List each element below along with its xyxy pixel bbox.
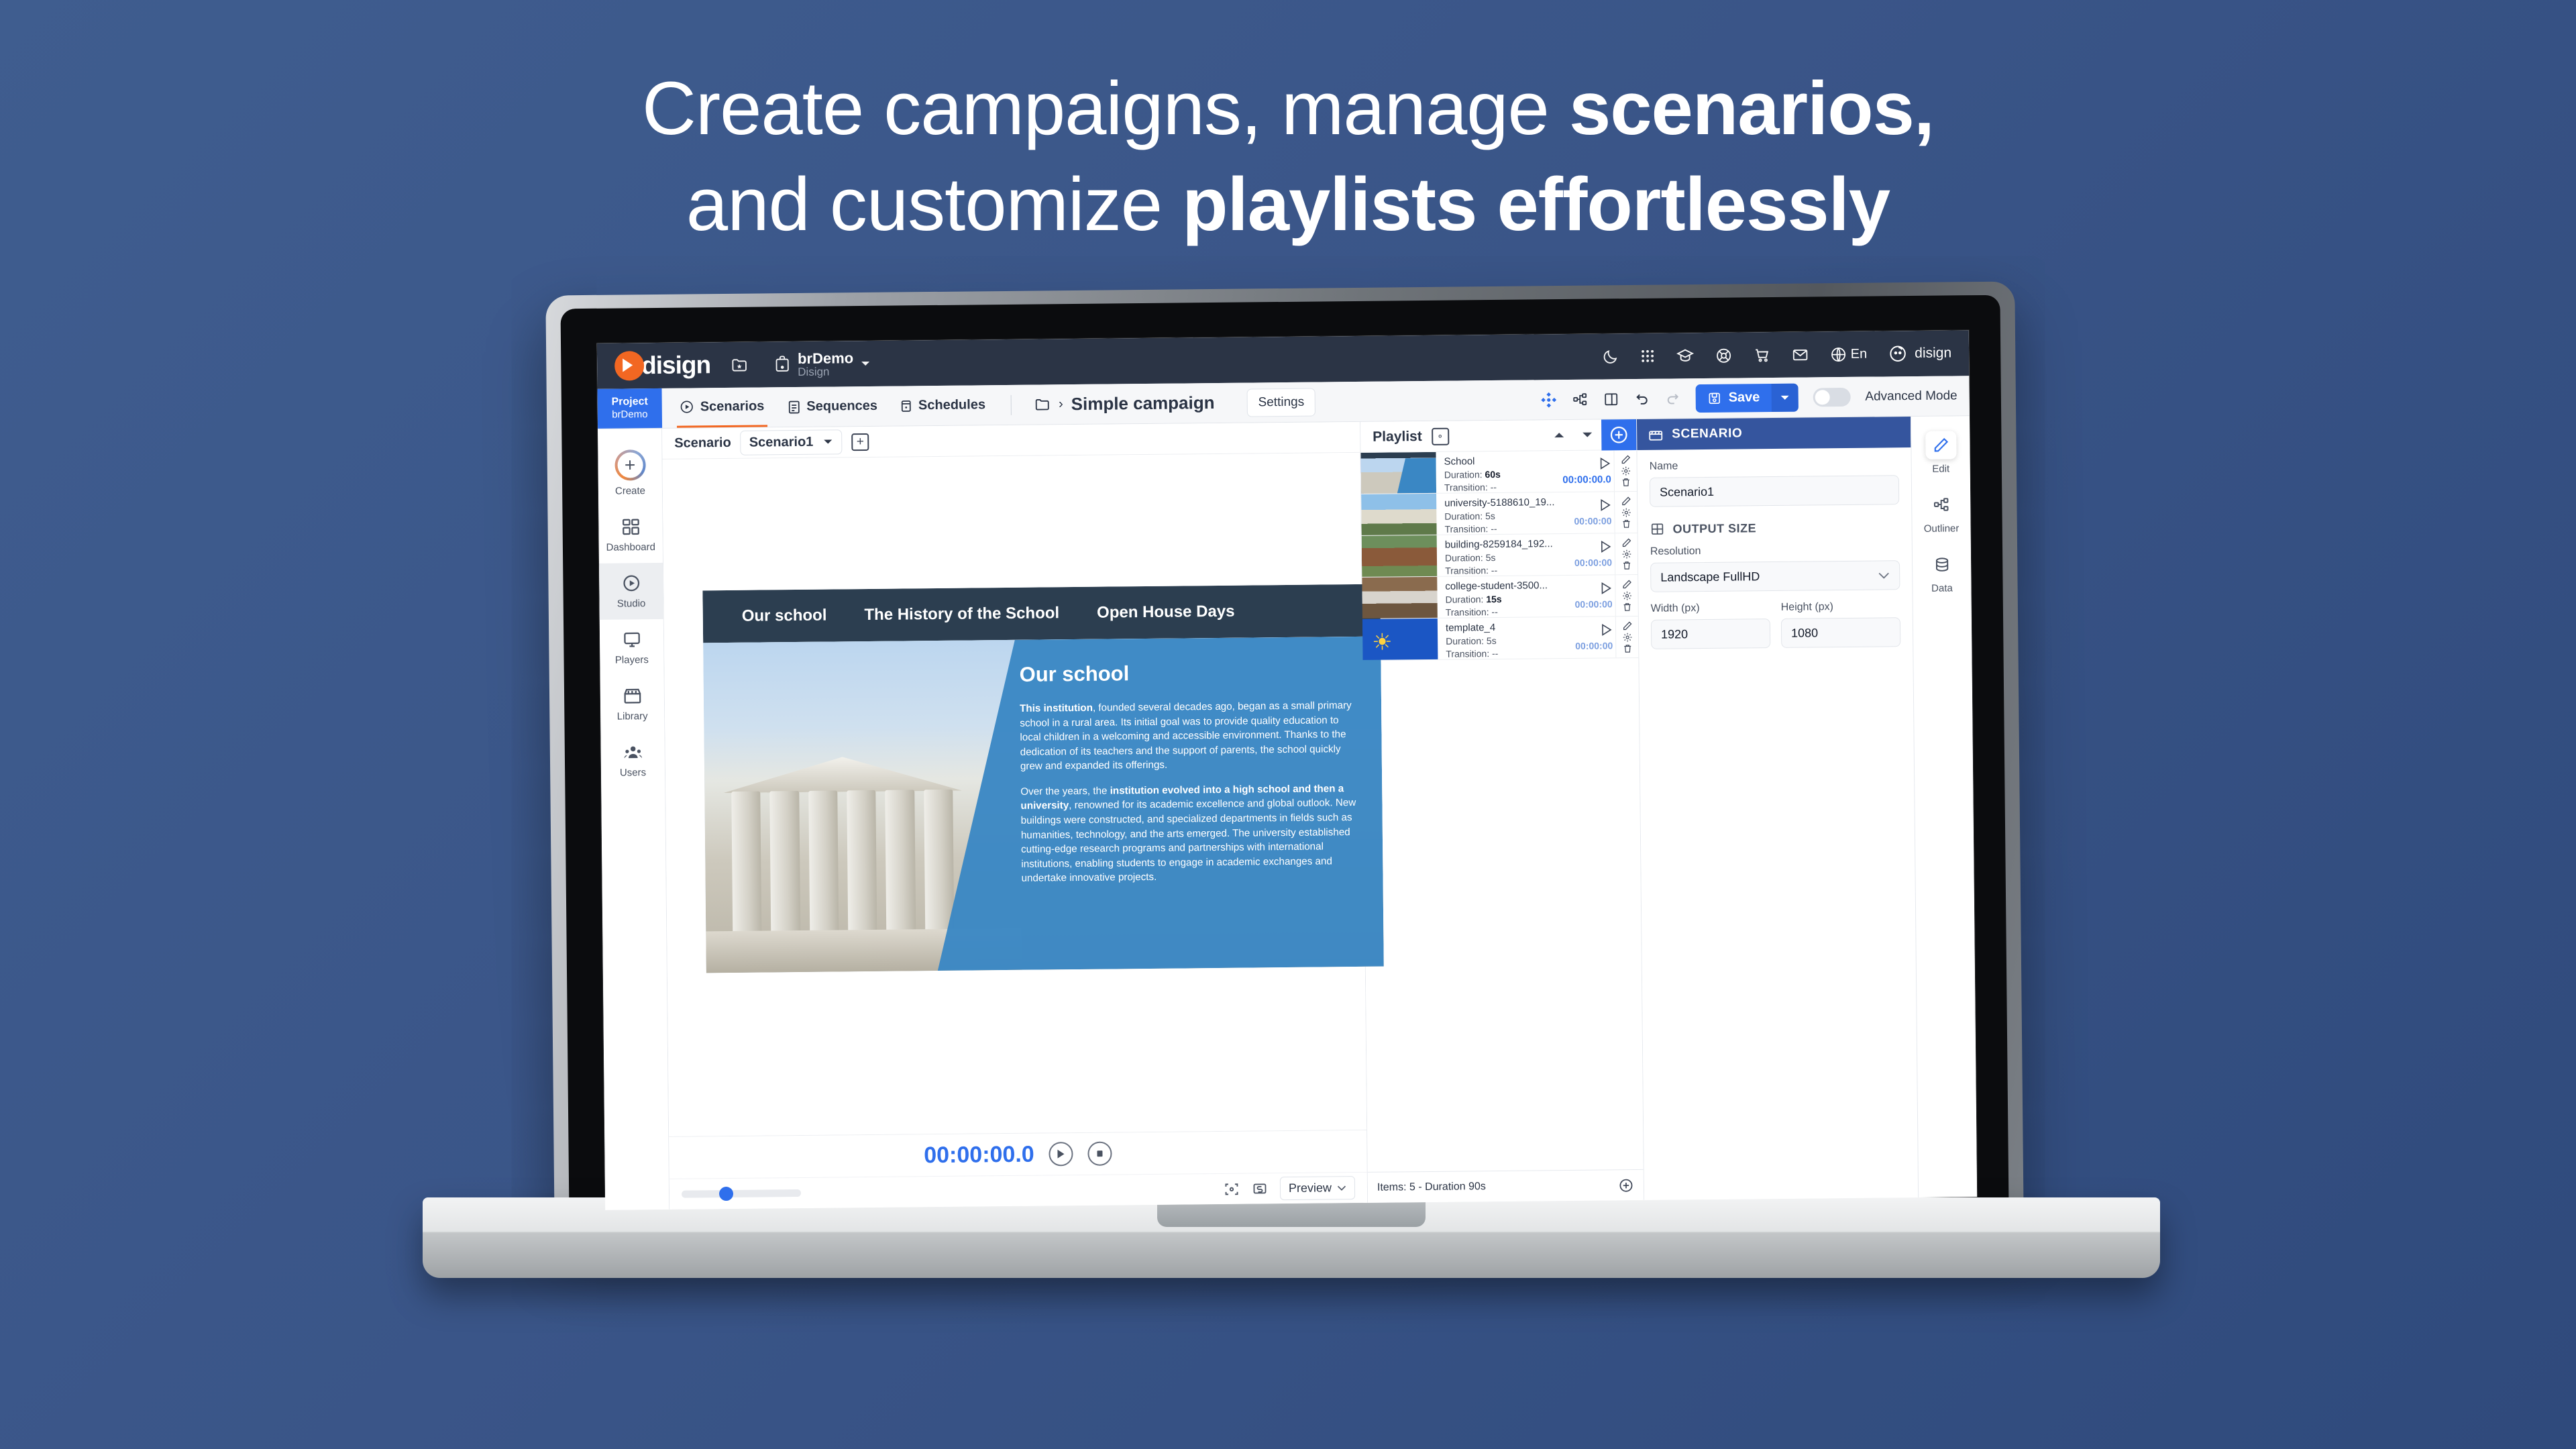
topbar-actions: En disign: [1602, 343, 1952, 366]
lifebuoy-icon[interactable]: [1715, 347, 1732, 364]
gear-icon[interactable]: [1621, 590, 1632, 601]
preview-actions: Preview: [1224, 1176, 1355, 1201]
navbar-tools: Save Advanced Mode: [1540, 376, 1970, 419]
save-button-group[interactable]: Save: [1695, 383, 1798, 412]
playlist-move-down-button[interactable]: [1573, 419, 1601, 450]
play-circle-icon: [680, 399, 694, 414]
plus-circle-icon: [1618, 1177, 1634, 1193]
briefcase-icon: [773, 355, 791, 374]
scenario-name-input[interactable]: Scenario1: [1650, 475, 1899, 507]
list-doc-icon: [787, 399, 800, 414]
preview-dropdown[interactable]: Preview: [1280, 1176, 1355, 1200]
scenario-canvas[interactable]: Our school The History of the School Ope…: [663, 453, 1367, 1136]
slide-p1-bold: This institution: [1020, 702, 1093, 714]
graduation-cap-icon[interactable]: [1676, 347, 1694, 364]
playlist-panel: Playlist: [1360, 419, 1644, 1203]
brand-name: disign: [641, 351, 710, 380]
duration-value: 5s: [1486, 552, 1496, 563]
playlist-item-transition: Transition: --: [1445, 564, 1562, 576]
right-rail-item-outliner[interactable]: Outliner: [1912, 484, 1971, 544]
playlist-item-duration: Duration: 5s: [1444, 510, 1562, 522]
add-scenario-button[interactable]: +: [851, 433, 869, 450]
playlist-header-actions: [1545, 419, 1636, 450]
move-icon[interactable]: [1540, 391, 1558, 409]
sidebar-item-label: Create: [615, 485, 645, 496]
dashboard-icon: [621, 517, 641, 537]
transition-label: Transition:: [1444, 482, 1488, 493]
height-input[interactable]: 1080: [1781, 617, 1900, 648]
sidebar-item-dashboard[interactable]: Dashboard: [598, 506, 663, 563]
tab-scenarios[interactable]: Scenarios: [676, 387, 767, 427]
trash-icon[interactable]: [1620, 477, 1631, 488]
fit-screen-icon[interactable]: [1224, 1181, 1240, 1197]
stop-icon: [1095, 1148, 1105, 1159]
calendar-icon: [900, 398, 912, 413]
advanced-mode-label: Advanced Mode: [1865, 388, 1957, 404]
playlist-footer: Items: 5 - Duration 90s: [1368, 1169, 1644, 1203]
plus-circle-icon: [1609, 425, 1629, 445]
gear-square-icon[interactable]: [1432, 427, 1449, 445]
playlist-item-transition: Transition: --: [1444, 523, 1562, 535]
folder-star-icon[interactable]: [731, 356, 748, 374]
duration-value: 60s: [1485, 469, 1501, 480]
plus-circle-icon: +: [614, 449, 645, 480]
properties-header: SCENARIO: [1637, 417, 1911, 450]
list-item[interactable]: college-student-3500... Duration: 15s Tr…: [1362, 575, 1638, 619]
play-icon[interactable]: [1599, 457, 1611, 470]
undo-icon[interactable]: [1634, 390, 1650, 407]
playlist-item-meta: School Duration: 60s Transition: --: [1436, 451, 1562, 493]
duration-label: Duration:: [1444, 469, 1483, 480]
playlist-item-duration: Duration: 5s: [1446, 635, 1563, 647]
right-rail-item-edit[interactable]: Edit: [1911, 424, 1970, 484]
apps-grid-icon[interactable]: [1640, 349, 1655, 364]
playlist-item-duration: Duration: 5s: [1445, 551, 1562, 563]
sidebar-item-library[interactable]: Library: [600, 676, 665, 733]
project-subtitle: Disign: [798, 366, 853, 378]
brand-logo[interactable]: disign: [614, 350, 710, 380]
settings-button[interactable]: Settings: [1246, 388, 1316, 417]
properties-panel: SCENARIO Name Scenario1 OUTPUT SIZE Reso…: [1637, 417, 1918, 1200]
trash-icon[interactable]: [1621, 602, 1632, 612]
weather-template-thumb: [1362, 619, 1438, 660]
playlist-title: Playlist: [1373, 429, 1422, 445]
tab-scenarios-label: Scenarios: [700, 398, 765, 415]
user-name: disign: [1915, 345, 1951, 362]
cart-icon[interactable]: [1754, 347, 1770, 364]
slide-nav: Our school The History of the School Ope…: [702, 584, 1381, 643]
headline-line2-bold: playlists effortlessly: [1182, 162, 1890, 246]
sidebar-item-players[interactable]: Players: [600, 619, 664, 676]
height-label: Height (px): [1781, 600, 1900, 614]
transition-value: --: [1491, 606, 1497, 617]
monitor-icon: [621, 629, 641, 649]
left-sidebar: + Create Dashboard Studio Players Librar…: [598, 429, 669, 1210]
pencil-icon[interactable]: [1621, 579, 1632, 590]
store-icon: [622, 686, 642, 706]
save-icon: [1707, 390, 1722, 405]
play-icon[interactable]: [1599, 540, 1612, 553]
playlist-item-transition: Transition: --: [1446, 606, 1563, 618]
sidebar-item-users[interactable]: Users: [600, 732, 665, 789]
duration-label: Duration:: [1444, 511, 1483, 522]
resolution-label: Resolution: [1650, 543, 1900, 558]
pencil-icon[interactable]: [1621, 496, 1631, 506]
tab-schedules[interactable]: Schedules: [898, 385, 989, 425]
redo-icon[interactable]: [1665, 390, 1681, 407]
playlist-item-duration: Duration: 15s: [1445, 593, 1562, 605]
right-rail-item-data[interactable]: Data: [1913, 543, 1972, 604]
playlist-item-name: building-8259184_192...: [1445, 538, 1562, 551]
slide-heading: Our school: [1019, 659, 1358, 687]
name-label: Name: [1650, 458, 1899, 473]
preview-label: Preview: [1289, 1181, 1332, 1195]
layout-icon[interactable]: [1603, 391, 1619, 407]
sidebar-item-create[interactable]: + Create: [598, 439, 662, 507]
avatar-icon: [1888, 344, 1907, 363]
play-icon[interactable]: [1600, 623, 1613, 636]
play-icon: [1057, 1148, 1066, 1159]
page-headline: Create campaigns, manage scenarios, and …: [0, 60, 2576, 253]
app-body: + Create Dashboard Studio Players Librar…: [598, 416, 1977, 1210]
right-rail-label: Data: [1931, 582, 1953, 594]
trash-icon[interactable]: [1622, 643, 1633, 654]
language-selector[interactable]: En: [1830, 345, 1868, 363]
right-rail-label: Outliner: [1924, 523, 1960, 535]
playlist-item-actions: [1615, 616, 1639, 657]
save-dropdown-button[interactable]: [1771, 383, 1798, 411]
project-tab-value: brDemo: [612, 409, 648, 421]
playlist-item-transition: Transition: --: [1446, 647, 1563, 659]
playlist-item-transition: Transition: --: [1444, 481, 1562, 493]
playlist-item-name: School: [1444, 455, 1562, 468]
size-fields: Width (px) 1920 Height (px) 1080: [1651, 600, 1901, 649]
transition-label: Transition:: [1446, 648, 1489, 659]
sidebar-item-label: Players: [615, 654, 649, 665]
headline-line2-plain: and customize: [686, 162, 1182, 246]
pencil-icon[interactable]: [1620, 454, 1631, 465]
playback-row: 00:00:00.0: [669, 1130, 1367, 1179]
gear-icon[interactable]: [1620, 466, 1631, 476]
transition-label: Transition:: [1445, 565, 1489, 576]
list-item[interactable]: university-5188610_19... Duration: 5s Tr…: [1361, 492, 1638, 536]
slide-nav-item-2: The History of the School: [864, 604, 1059, 625]
resolution-value: Landscape FullHD: [1660, 570, 1760, 584]
trash-icon[interactable]: [1621, 560, 1632, 571]
slide-nav-item-1: Our school: [742, 606, 827, 626]
playlist-item-meta: building-8259184_192... Duration: 5s Tra…: [1437, 534, 1563, 576]
scenario-select[interactable]: Scenario1: [741, 429, 843, 455]
width-label: Width (px): [1651, 602, 1770, 615]
language-label: En: [1851, 346, 1868, 362]
playlist-item-name: university-5188610_19...: [1444, 496, 1562, 509]
building-photo-thumb: [1362, 535, 1438, 577]
zoom-slider[interactable]: [682, 1189, 801, 1198]
application-window: disign brDemo Disign: [597, 330, 1977, 1210]
editor-center: Scenario Scenario1 + Our school The Hist…: [662, 422, 1368, 1210]
playlist-item-duration: Duration: 60s: [1444, 468, 1562, 480]
output-size-section: OUTPUT SIZE: [1650, 519, 1899, 537]
tree-icon[interactable]: [1572, 391, 1589, 407]
playlist-item-controls: 00:00:00.0: [1561, 450, 1614, 492]
duration-value: 5s: [1485, 511, 1495, 521]
sidebar-item-label: Users: [620, 767, 646, 778]
gear-icon[interactable]: [1621, 549, 1631, 559]
laptop-base: [423, 1197, 2160, 1278]
student-photo-thumb: [1362, 577, 1438, 619]
slide-paragraph-1: This institution, founded several decade…: [1020, 698, 1359, 774]
properties-title: SCENARIO: [1672, 426, 1742, 441]
list-item[interactable]: building-8259184_192... Duration: 5s Tra…: [1362, 533, 1638, 578]
playlist-summary: Items: 5 - Duration 90s: [1377, 1181, 1486, 1194]
playlist-item-controls: 00:00:00: [1563, 616, 1616, 658]
project-tab-label: Project: [611, 396, 647, 409]
university-photo-thumb: [1361, 494, 1437, 535]
playlist-add-button[interactable]: [1601, 419, 1636, 449]
playlist-item-meta: university-5188610_19... Duration: 5s Tr…: [1436, 492, 1562, 535]
playlist-item-time: 00:00:00: [1574, 557, 1612, 568]
playback-controls: 00:00:00.0: [669, 1130, 1367, 1210]
playlist-item-name: template_4: [1446, 621, 1563, 634]
transition-value: --: [1491, 482, 1497, 492]
tree-icon: [1926, 490, 1957, 519]
list-item[interactable]: template_4 Duration: 5s Transition: -- 0…: [1362, 616, 1639, 661]
chevron-down-icon: [822, 438, 833, 445]
transition-label: Transition:: [1444, 523, 1488, 535]
slide-body: Our school This institution, founded sev…: [703, 637, 1384, 973]
advanced-mode-toggle[interactable]: [1813, 387, 1850, 407]
clapperboard-icon: [1648, 427, 1664, 442]
building-columns: [731, 790, 954, 932]
right-sidebar: Edit Outliner Data: [1911, 416, 1977, 1197]
playlist-item-meta: college-student-3500... Duration: 15s Tr…: [1437, 576, 1563, 618]
chevron-down-icon: [1878, 572, 1890, 579]
project-name: brDemo: [798, 350, 853, 366]
slide-school-thumb: [1360, 452, 1436, 494]
tab-schedules-label: Schedules: [918, 397, 985, 413]
chevron-down-icon[interactable]: [860, 360, 871, 368]
transition-value: --: [1492, 648, 1498, 659]
save-button[interactable]: Save: [1695, 384, 1771, 413]
pencil-icon: [1925, 431, 1956, 459]
user-menu[interactable]: disign: [1888, 343, 1951, 363]
width-input[interactable]: 1920: [1651, 619, 1770, 649]
scenario-select-value: Scenario1: [749, 435, 814, 451]
campaign-title: Simple campaign: [1071, 392, 1215, 415]
slide-p2-pre: Over the years, the: [1020, 785, 1110, 797]
transition-value: --: [1491, 565, 1497, 576]
playlist-item-meta: template_4 Duration: 5s Transition: --: [1438, 617, 1564, 659]
tab-sequences[interactable]: Sequences: [784, 386, 880, 427]
duration-value: 5s: [1487, 635, 1497, 646]
project-switcher[interactable]: brDemo Disign: [773, 350, 871, 378]
sidebar-item-label: Studio: [617, 598, 646, 609]
playlist-header: Playlist: [1360, 419, 1636, 453]
play-button[interactable]: [1049, 1142, 1073, 1166]
playlist-item-time: 00:00:00.0: [1562, 474, 1611, 486]
sidebar-item-label: Dashboard: [606, 541, 655, 553]
stop-button[interactable]: [1088, 1142, 1112, 1166]
mail-icon[interactable]: [1792, 346, 1809, 363]
users-icon: [623, 742, 643, 762]
playlist-item-time: 00:00:00: [1575, 640, 1613, 651]
chevron-down-icon: [1779, 393, 1790, 401]
headline-line1-bold: scenarios,: [1569, 66, 1934, 150]
tab-sequences-label: Sequences: [806, 398, 877, 415]
breadcrumb-separator: ›: [1059, 396, 1063, 412]
slide-preview: Our school The History of the School Ope…: [702, 584, 1383, 973]
slide-p2-text: , renowned for its academic excellence a…: [1021, 797, 1356, 884]
scenario-label: Scenario: [674, 435, 731, 451]
duration-value: 15s: [1486, 594, 1502, 604]
playlist-item-actions: [1615, 575, 1638, 616]
pencil-icon[interactable]: [1621, 621, 1632, 631]
playlist-item-time: 00:00:00: [1574, 515, 1611, 527]
playlist-items: School Duration: 60s Transition: -- 00:0…: [1360, 450, 1643, 1172]
playlist-item-time: 00:00:00: [1575, 598, 1613, 610]
playback-timecode: 00:00:00.0: [924, 1141, 1034, 1169]
slide-text-block: Our school This institution, founded sev…: [1019, 659, 1360, 897]
pencil-icon[interactable]: [1621, 537, 1631, 548]
caret-down-icon: [1580, 431, 1594, 439]
play-circle-icon: [621, 573, 641, 593]
sidebar-item-label: Library: [617, 710, 648, 722]
moon-icon[interactable]: [1602, 348, 1619, 365]
nav-tabs: Scenarios Sequences Schedules › Simple c…: [661, 382, 1316, 428]
playlist-item-actions: [1613, 450, 1637, 491]
caret-up-icon: [1552, 431, 1566, 439]
right-rail-label: Edit: [1932, 463, 1949, 474]
duration-label: Duration:: [1445, 594, 1483, 605]
grid-icon: [1650, 522, 1664, 537]
playlist-item-controls: 00:00:00: [1562, 533, 1615, 575]
disign-logo-icon: [614, 351, 644, 380]
nav-divider: [1011, 394, 1012, 415]
project-tab[interactable]: Project brDemo: [597, 388, 662, 429]
playlist-move-up-button[interactable]: [1545, 419, 1573, 450]
database-icon: [1926, 550, 1957, 578]
playlist-footer-add-button[interactable]: [1618, 1177, 1634, 1193]
chevron-down-icon: [1337, 1185, 1346, 1191]
playlist-item-controls: 00:00:00: [1562, 575, 1615, 616]
transition-label: Transition:: [1446, 606, 1489, 618]
resolution-select[interactable]: Landscape FullHD: [1650, 560, 1900, 592]
trash-icon[interactable]: [1621, 519, 1631, 529]
list-item[interactable]: School Duration: 60s Transition: -- 00:0…: [1360, 450, 1637, 494]
gear-icon[interactable]: [1621, 507, 1631, 518]
headline-line1-plain: Create campaigns, manage: [642, 66, 1569, 150]
properties-body: Name Scenario1 OUTPUT SIZE Resolution La…: [1637, 447, 1913, 660]
output-size-title: OUTPUT SIZE: [1672, 521, 1756, 536]
folder-icon: [1034, 397, 1051, 412]
playlist-item-actions: [1615, 533, 1638, 574]
breadcrumb: › Simple campaign: [1034, 392, 1215, 415]
gear-icon[interactable]: [1622, 632, 1633, 643]
transition-value: --: [1491, 523, 1497, 534]
playlist-item-actions: [1614, 492, 1638, 533]
duration-label: Duration:: [1446, 635, 1484, 647]
duration-label: Duration:: [1445, 552, 1483, 563]
building-pediment: [723, 756, 962, 793]
play-icon[interactable]: [1599, 582, 1612, 594]
playlist-item-controls: 00:00:00: [1562, 492, 1615, 533]
save-label: Save: [1729, 390, 1760, 405]
slide-paragraph-2: Over the years, the institution evolved …: [1020, 782, 1360, 886]
cast-icon[interactable]: [1252, 1181, 1268, 1197]
playlist-item-name: college-student-3500...: [1445, 580, 1562, 592]
slide-nav-item-3: Open House Days: [1097, 602, 1235, 623]
sidebar-item-studio[interactable]: Studio: [599, 563, 663, 620]
play-icon[interactable]: [1599, 498, 1611, 511]
